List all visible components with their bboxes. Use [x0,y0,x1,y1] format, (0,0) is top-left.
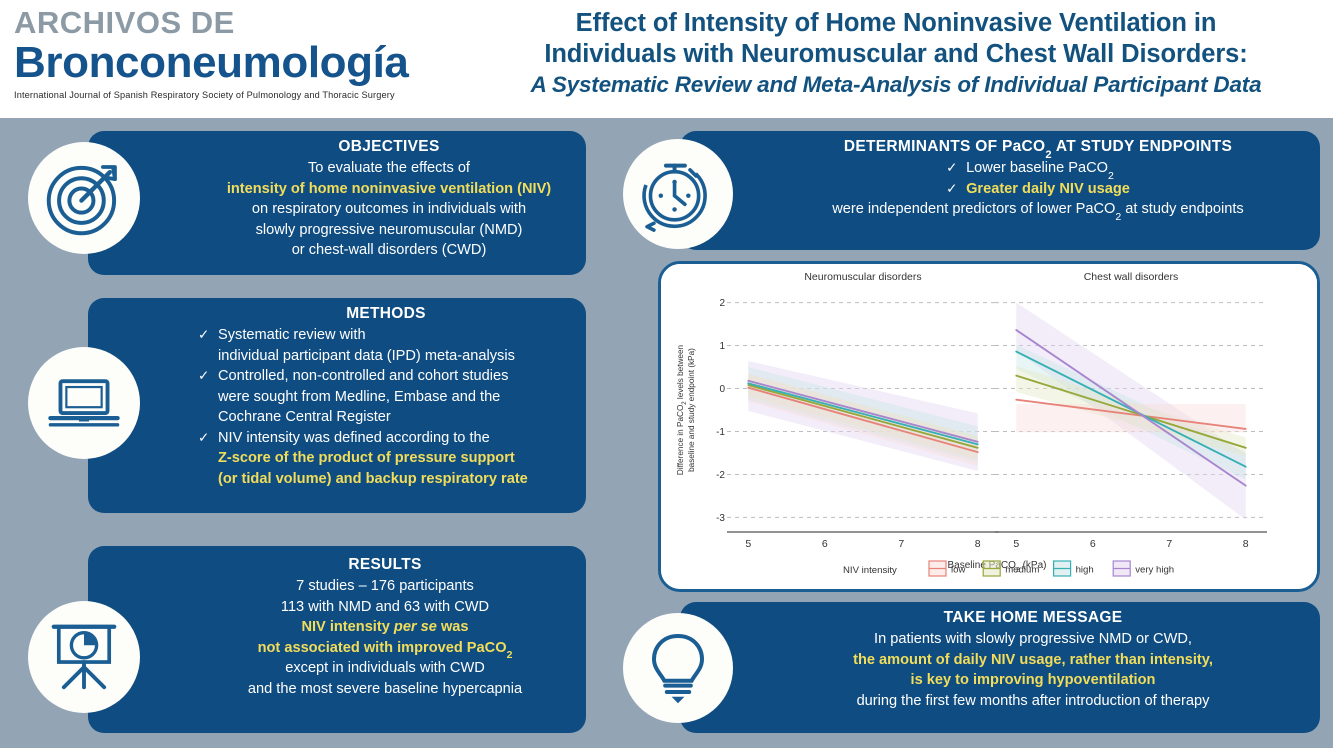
methods-title: METHODS [198,305,574,323]
presentation-chart-icon [28,601,140,713]
methods-item-1: individual participant data (IPD) meta-a… [198,346,574,367]
journal-archivos-label: ARCHIVOS DE [14,6,466,40]
panel-methods: METHODS ✓Systematic review withindividua… [88,298,586,513]
check-icon: ✓ [198,325,218,346]
results-line-0: 7 studies – 176 participants [198,576,572,597]
x-tick-7-facet-0: 7 [898,538,904,550]
legend-label-medium: medium [1005,565,1039,576]
objectives-line-1: intensity of home noninvasive ventilatio… [206,179,572,200]
poster-header: ARCHIVOS DE Bronconeumología Internation… [0,0,1333,118]
methods-item-label-5: NIV intensity was defined according to t… [218,428,574,449]
legend-label-low: low [951,565,965,576]
x-tick-6-facet-1: 6 [1090,538,1096,550]
take-home-line-1: the amount of daily NIV usage, rather th… [760,650,1306,671]
legend-title: NIV intensity [843,565,897,576]
determinants-footer: were independent predictors of lower PaC… [770,199,1306,220]
objectives-body: To evaluate the effects ofintensity of h… [206,158,572,261]
y-tick--3: -3 [716,513,725,524]
y-tick--1: -1 [716,427,725,438]
stopwatch-icon [623,139,733,249]
figure-paco2-by-niv-intensity: Neuromuscular disordersChest wall disord… [658,261,1320,592]
determinants-item-label-1: Greater daily NIV usage [966,179,1130,200]
y-tick-0: 0 [719,384,725,395]
take-home-body: In patients with slowly progressive NMD … [760,629,1306,711]
methods-item-2: ✓Controlled, non-controlled and cohort s… [198,366,574,387]
x-tick-6-facet-0: 6 [822,538,828,550]
objectives-line-3: slowly progressive neuromuscular (NMD) [206,220,572,241]
methods-item-7: (or tidal volume) and backup respiratory… [198,469,574,490]
title-line-2: Individuals with Neuromuscular and Chest… [466,39,1326,70]
results-line-2: NIV intensity per se was [198,617,572,638]
panel-determinants: DETERMINANTS OF PaCO2 AT STUDY ENDPOINTS… [680,131,1320,250]
methods-item-5: ✓NIV intensity was defined according to … [198,428,574,449]
x-tick-7-facet-1: 7 [1166,538,1172,550]
poster-root: ARCHIVOS DE Bronconeumología Internation… [0,0,1333,754]
check-icon: ✓ [198,428,218,449]
y-axis-title-line-1: baseline and study endpoint (kPa) [687,348,696,472]
objectives-line-2: on respiratory outcomes in individuals w… [206,199,572,220]
title-line-1: Effect of Intensity of Home Noninvasive … [466,8,1326,39]
determinants-title: DETERMINANTS OF PaCO2 AT STUDY ENDPOINTS [770,138,1306,156]
check-icon: ✓ [946,179,966,200]
results-title: RESULTS [198,556,572,574]
methods-item-label-3: were sought from Medline, Embase and the [218,387,574,408]
title-line-3: A Systematic Review and Meta-Analysis of… [466,70,1326,99]
objectives-title: OBJECTIVES [206,138,572,156]
take-home-line-3: during the first few months after introd… [760,691,1306,712]
y-tick-1: 1 [719,341,725,352]
page-title: Effect of Intensity of Home Noninvasive … [466,8,1326,99]
methods-item-label-7: (or tidal volume) and backup respiratory… [218,469,574,490]
check-icon: ✓ [198,366,218,387]
methods-item-label-1: individual participant data (IPD) meta-a… [218,346,574,367]
take-home-title: TAKE HOME MESSAGE [760,609,1306,627]
take-home-line-2: is key to improving hypoventilation [760,670,1306,691]
objectives-line-4: or chest-wall disorders (CWD) [206,240,572,261]
methods-body: ✓Systematic review withindividual partic… [198,325,574,489]
y-tick--2: -2 [716,470,725,481]
legend-label-high: high [1076,565,1094,576]
objectives-line-0: To evaluate the effects of [206,158,572,179]
methods-item-4: Cochrane Central Register [198,407,574,428]
take-home-line-0: In patients with slowly progressive NMD … [760,629,1306,650]
results-body: 7 studies – 176 participants113 with NMD… [198,576,572,699]
panel-objectives: OBJECTIVES To evaluate the effects ofint… [88,131,586,275]
results-line-3: not associated with improved PaCO2 [198,638,572,659]
chart-svg: Neuromuscular disordersChest wall disord… [661,264,1317,589]
methods-item-3: were sought from Medline, Embase and the [198,387,574,408]
methods-item-label-2: Controlled, non-controlled and cohort st… [218,366,574,387]
methods-item-label-4: Cochrane Central Register [218,407,574,428]
lightbulb-icon [623,613,733,723]
x-tick-8-facet-0: 8 [975,538,981,550]
methods-item-0: ✓Systematic review with [198,325,574,346]
determinants-item-0: ✓Lower baseline PaCO2 [946,158,1130,179]
x-tick-5-facet-1: 5 [1013,538,1019,550]
target-icon [28,142,140,254]
results-line-1: 113 with NMD and 63 with CWD [198,597,572,618]
y-tick-2: 2 [719,298,725,309]
panel-take-home-message: TAKE HOME MESSAGE In patients with slowl… [680,602,1320,733]
determinants-item-label-0: Lower baseline PaCO2 [966,158,1130,179]
legend-label-very-high: very high [1135,565,1174,576]
panel-results: RESULTS 7 studies – 176 participants113 … [88,546,586,733]
results-line-5: and the most severe baseline hypercapnia [198,679,572,700]
x-tick-5-facet-0: 5 [745,538,751,550]
x-tick-8-facet-1: 8 [1243,538,1249,550]
methods-item-label-6: Z-score of the product of pressure suppo… [218,448,574,469]
facet-title-0: Neuromuscular disorders [804,271,921,283]
methods-item-label-0: Systematic review with [218,325,574,346]
facet-title-1: Chest wall disorders [1084,271,1179,283]
determinants-item-1: ✓Greater daily NIV usage [946,179,1130,200]
check-icon: ✓ [946,158,966,179]
journal-subtitle-label: International Journal of Spanish Respira… [14,90,466,100]
journal-masthead: ARCHIVOS DE Bronconeumología Internation… [14,6,466,100]
methods-item-6: Z-score of the product of pressure suppo… [198,448,574,469]
poster-bottom-rule [0,748,1333,754]
determinants-body: ✓Lower baseline PaCO2✓Greater daily NIV … [770,158,1306,199]
results-line-4: except in individuals with CWD [198,658,572,679]
journal-name-label: Bronconeumología [14,38,466,87]
laptop-icon [28,347,140,459]
